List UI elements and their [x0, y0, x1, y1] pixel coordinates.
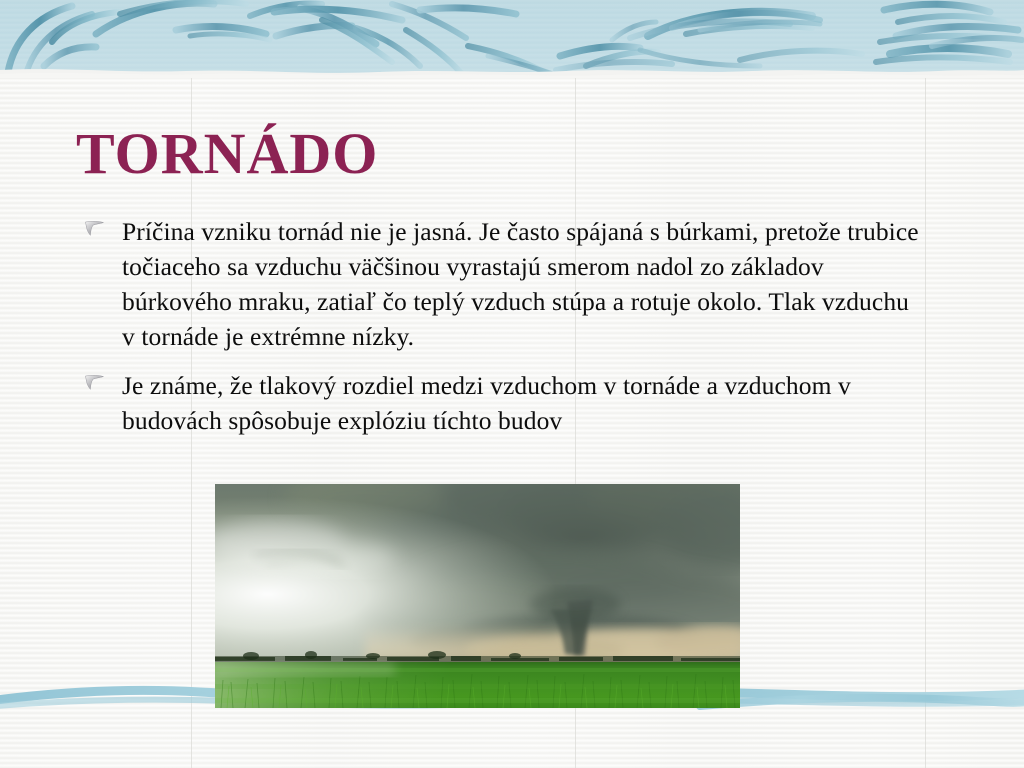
slide-title: TORNÁDO [76, 124, 378, 185]
bullet-text: Príčina vzniku tornád nie je jasná. Je č… [122, 214, 919, 354]
header-decoration-band [0, 0, 1024, 78]
brushstroke-pattern-icon [0, 0, 1024, 78]
slide-body: Príčina vzniku tornád nie je jasná. Je č… [84, 214, 919, 452]
tornado-photograph [215, 484, 740, 708]
curved-hook-bullet-icon [84, 214, 122, 245]
bullet-text: Je známe, že tlakový rozdiel medzi vzduc… [122, 368, 919, 438]
presentation-slide: TORNÁDO Príčina vzniku tornád nie je jas… [0, 0, 1024, 768]
bullet-item: Je známe, že tlakový rozdiel medzi vzduc… [84, 368, 919, 438]
bullet-item: Príčina vzniku tornád nie je jasná. Je č… [84, 214, 919, 354]
curved-hook-bullet-icon [84, 368, 122, 399]
